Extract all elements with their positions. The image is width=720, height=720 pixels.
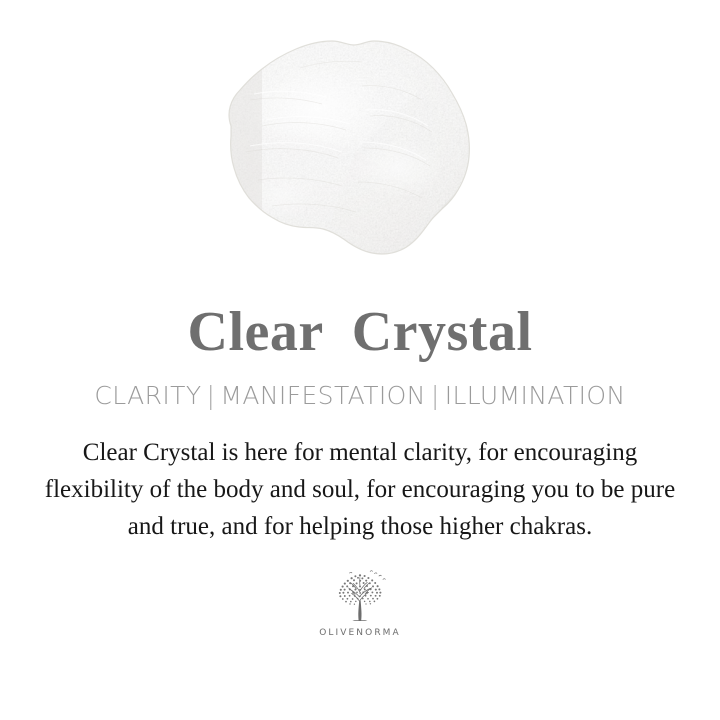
product-title: Clear Crystal [188,304,533,360]
product-keywords: CLARITY|MANIFESTATION|ILLUMINATION [94,382,625,410]
keyword-separator-1: | [202,381,221,410]
crystal-image-area [0,0,720,288]
crystal-product-card: Clear Crystal CLARITY|MANIFESTATION|ILLU… [0,0,720,720]
keyword-clarity: CLARITY [94,381,201,410]
keyword-illumination: ILLUMINATION [445,381,626,410]
tree-logo-icon [324,567,396,625]
brand-name: OLIVENORMA [319,628,401,638]
clear-crystal-image [0,0,720,288]
brand-logo: OLIVENORMA [319,567,401,638]
product-description: Clear Crystal is here for mental clarity… [40,434,680,545]
keyword-manifestation: MANIFESTATION [220,381,426,410]
keyword-separator-2: | [426,381,445,410]
